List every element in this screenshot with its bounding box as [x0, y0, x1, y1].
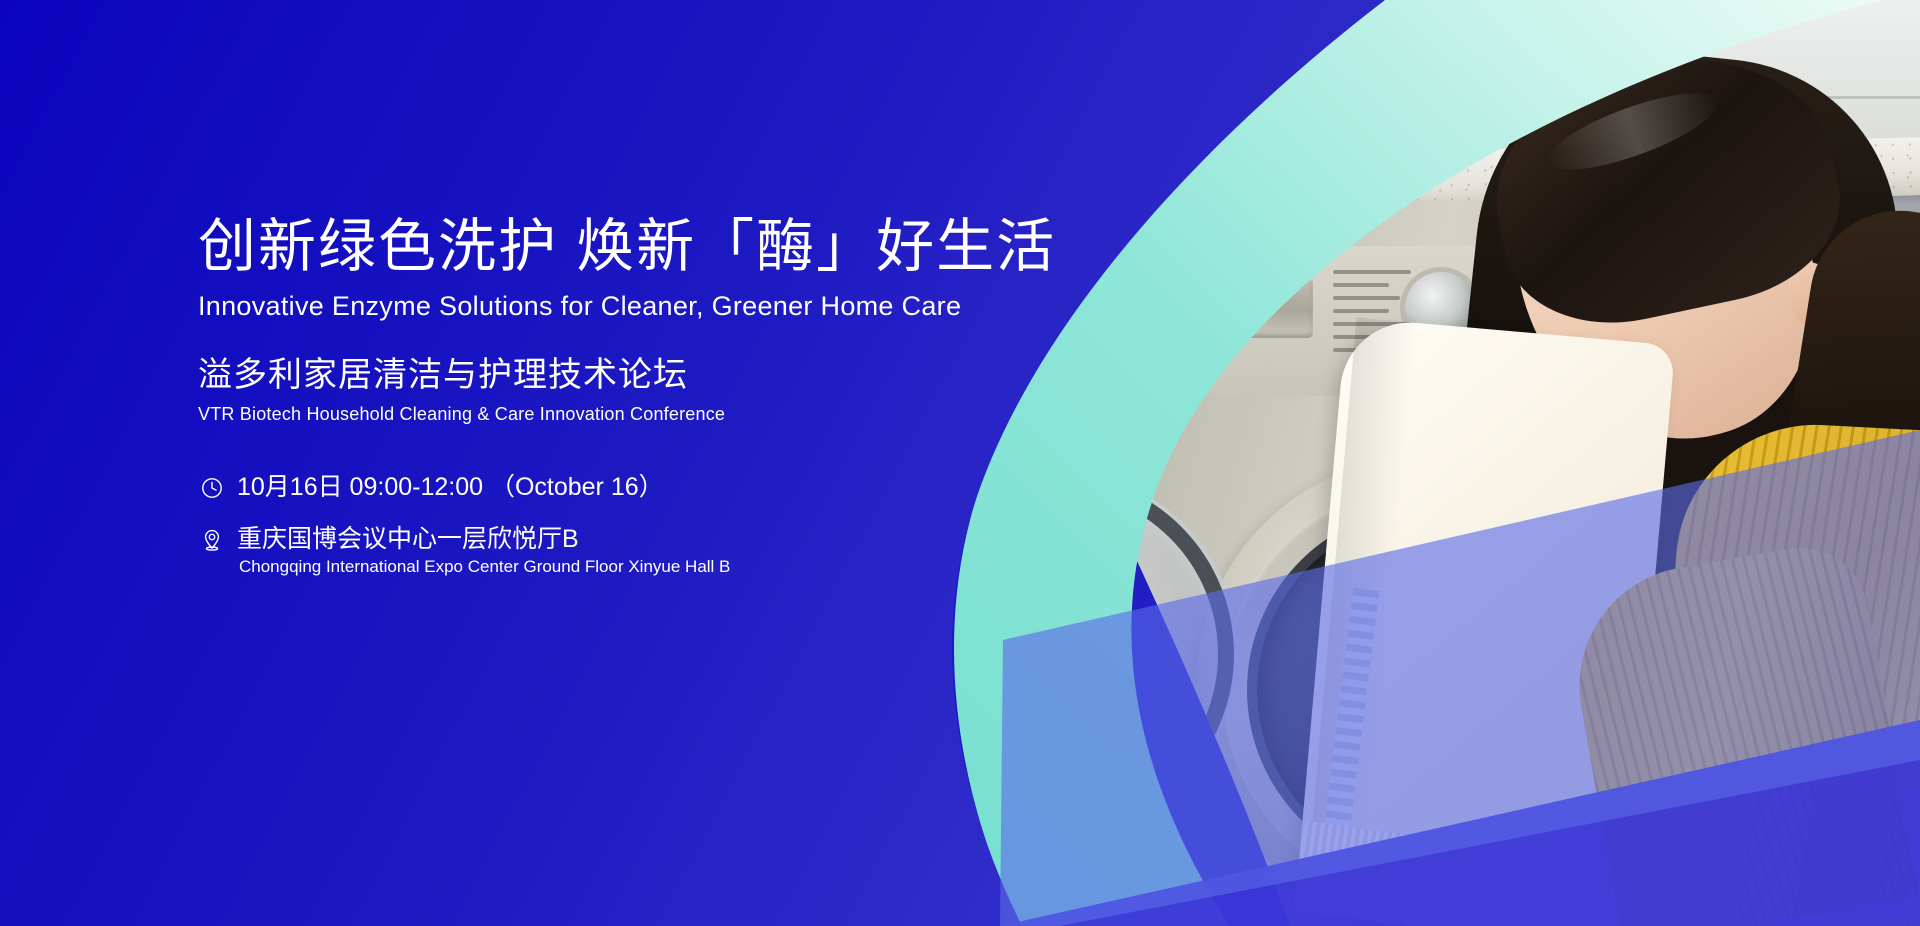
- conference-name: 溢多利家居清洁与护理技术论坛: [198, 358, 688, 392]
- towel-fringe: [1293, 820, 1632, 926]
- hair-shine: [1540, 78, 1726, 185]
- banner-content: 创新绿色洗护 焕新「酶」好生活 Innovative Enzyme Soluti…: [198, 0, 958, 926]
- event-datetime: 10月16日 09:00-12:00 （October 16）: [237, 474, 664, 502]
- conference-banner: 创新绿色洗护 焕新「酶」好生活 Innovative Enzyme Soluti…: [0, 0, 1920, 926]
- event-venue-row: 重庆国博会议中心一层欣悦厅B Chongqing International E…: [200, 526, 730, 577]
- detergent-drawer: [1103, 276, 1313, 338]
- event-venue: 重庆国博会议中心一层欣悦厅B: [237, 526, 730, 554]
- laundry-scene: [990, 0, 1920, 926]
- page-title-english: Innovative Enzyme Solutions for Cleaner,…: [198, 293, 961, 320]
- page-title: 创新绿色洗护 焕新「酶」好生活: [198, 218, 1056, 276]
- event-venue-english: Chongqing International Expo Center Grou…: [237, 558, 730, 577]
- event-datetime-text: 10月16日 09:00-12:00 （October 16）: [237, 474, 664, 502]
- event-datetime-row: 10月16日 09:00-12:00 （October 16）: [200, 474, 730, 502]
- conference-name-english: VTR Biotech Household Cleaning & Care In…: [198, 405, 725, 423]
- event-details: 10月16日 09:00-12:00 （October 16） 重庆国博会议中心…: [200, 474, 730, 577]
- hero-photo: [990, 0, 1920, 926]
- event-venue-text: 重庆国博会议中心一层欣悦厅B Chongqing International E…: [237, 526, 730, 577]
- clock-icon: [200, 476, 224, 500]
- location-pin-icon: [200, 528, 224, 552]
